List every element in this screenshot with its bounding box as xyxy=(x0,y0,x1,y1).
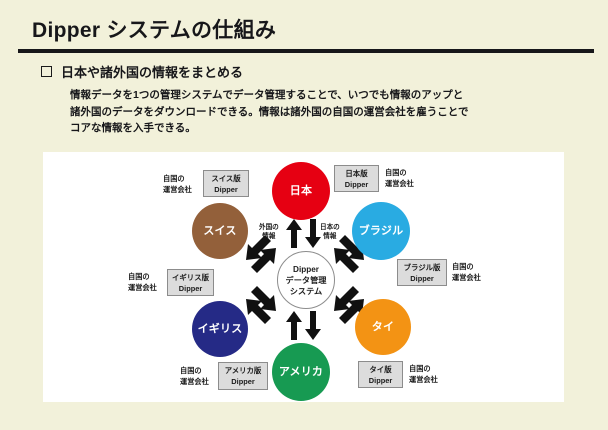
version-box-brazil-line1: ブラジル版 xyxy=(404,262,441,273)
operator-caption-thailand-line2: 運営会社 xyxy=(409,375,438,384)
title-divider xyxy=(18,49,594,53)
version-box-uk[interactable]: イギリス版 Dipper xyxy=(167,269,214,296)
operator-caption-brazil: 自国の 運営会社 xyxy=(452,262,481,283)
bullet-heading-row: 日本や諸外国の情報をまとめる xyxy=(41,62,243,81)
operator-caption-switzerland-line2: 運営会社 xyxy=(163,185,192,194)
version-box-thailand-line1: タイ版 xyxy=(369,364,391,375)
version-box-japan-line2: Dipper xyxy=(345,179,368,190)
country-circle-brazil[interactable]: ブラジル xyxy=(352,202,410,260)
operator-caption-usa-line2: 運営会社 xyxy=(180,377,209,386)
operator-caption-thailand-line1: 自国の xyxy=(409,364,431,373)
version-box-japan[interactable]: 日本版 Dipper xyxy=(334,165,379,192)
version-box-switzerland-line1: スイス版 xyxy=(211,173,240,184)
flow-label-outbound-line1: 日本の xyxy=(320,224,340,231)
operator-caption-usa: 自国の 運営会社 xyxy=(180,366,209,387)
flow-label-inbound-line2: 情報 xyxy=(262,233,275,240)
body-line-1: 情報データを1つの管理システムでデータ管理することで、いつでも情報のアップと xyxy=(70,87,580,104)
country-label-switzerland: スイス xyxy=(203,225,236,237)
operator-caption-usa-line1: 自国の xyxy=(180,366,202,375)
country-label-usa: アメリカ xyxy=(279,366,323,378)
operator-caption-thailand: 自国の 運営会社 xyxy=(409,364,438,385)
country-label-uk: イギリス xyxy=(198,323,243,335)
operator-caption-switzerland: 自国の 運営会社 xyxy=(163,174,192,195)
version-box-brazil[interactable]: ブラジル版 Dipper xyxy=(397,259,447,286)
version-box-brazil-line2: Dipper xyxy=(410,273,433,284)
country-circle-switzerland[interactable]: スイス xyxy=(192,203,248,259)
version-box-switzerland[interactable]: スイス版 Dipper xyxy=(203,170,249,197)
body-line-3: コアな情報を入手できる。 xyxy=(70,120,580,137)
operator-caption-uk: 自国の 運営会社 xyxy=(128,272,157,293)
country-circle-usa[interactable]: アメリカ xyxy=(272,343,330,401)
operator-caption-japan-line1: 自国の xyxy=(385,168,407,177)
country-circle-uk[interactable]: イギリス xyxy=(192,301,248,357)
checkbox-outline-icon xyxy=(41,66,52,77)
page-title: Dipper システムの仕組み xyxy=(32,14,276,44)
version-box-switzerland-line2: Dipper xyxy=(214,184,237,195)
hub-line-2: データ管理 xyxy=(286,275,327,286)
bullet-heading-label: 日本や諸外国の情報をまとめる xyxy=(61,62,243,81)
body-line-2: 諸外国のデータをダウンロードできる。情報は諸外国の自国の運営会社を雇うことで xyxy=(70,104,580,121)
version-box-usa[interactable]: アメリカ版 Dipper xyxy=(218,362,268,390)
operator-caption-uk-line2: 運営会社 xyxy=(128,283,157,292)
body-paragraph: 情報データを1つの管理システムでデータ管理することで、いつでも情報のアップと 諸… xyxy=(70,87,580,137)
hub-line-3: システム xyxy=(290,286,323,297)
country-label-thailand: タイ xyxy=(372,321,394,333)
operator-caption-switzerland-line1: 自国の xyxy=(163,174,185,183)
operator-caption-uk-line1: 自国の xyxy=(128,272,150,281)
flow-label-outbound-line2: 情報 xyxy=(323,233,336,240)
hub-line-1: Dipper xyxy=(293,264,319,275)
version-box-usa-line2: Dipper xyxy=(231,376,254,387)
center-hub-dipper-system[interactable]: Dipper データ管理 システム xyxy=(277,251,335,309)
operator-caption-japan-line2: 運営会社 xyxy=(385,179,414,188)
flow-label-inbound-line1: 外国の xyxy=(259,224,279,231)
version-box-thailand[interactable]: タイ版 Dipper xyxy=(358,361,403,388)
version-box-thailand-line2: Dipper xyxy=(369,375,392,386)
version-box-uk-line1: イギリス版 xyxy=(172,272,209,283)
country-circle-thailand[interactable]: タイ xyxy=(355,299,411,355)
version-box-usa-line1: アメリカ版 xyxy=(225,365,262,376)
version-box-japan-line1: 日本版 xyxy=(345,168,367,179)
operator-caption-brazil-line1: 自国の xyxy=(452,262,474,271)
operator-caption-brazil-line2: 運営会社 xyxy=(452,273,481,282)
country-label-brazil: ブラジル xyxy=(359,225,404,237)
country-circle-japan[interactable]: 日本 xyxy=(272,162,330,220)
operator-caption-japan: 自国の 運営会社 xyxy=(385,168,414,189)
flow-label-inbound: 外国の 情報 xyxy=(259,224,279,241)
flow-label-outbound: 日本の 情報 xyxy=(320,224,340,241)
version-box-uk-line2: Dipper xyxy=(179,283,202,294)
country-label-japan: 日本 xyxy=(290,185,312,197)
